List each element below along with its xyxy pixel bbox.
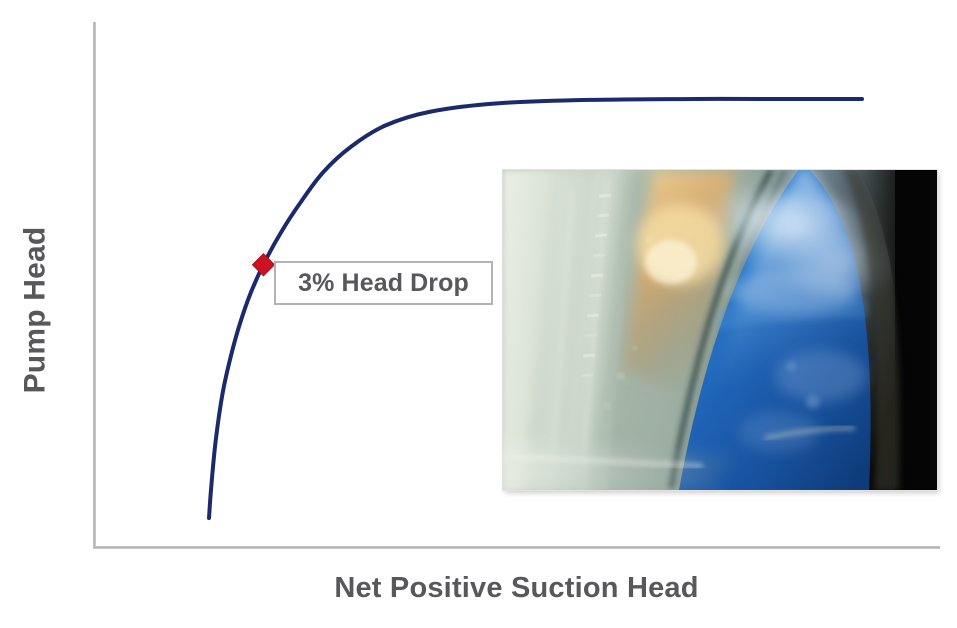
curve-layer [0,0,957,628]
three-percent-head-drop-marker [252,254,274,276]
head-drop-callout-text: 3% Head Drop [298,269,469,298]
head-drop-callout: 3% Head Drop [274,261,493,305]
npsh-pump-head-chart: Pump Head [0,0,957,628]
pump-head-curve [209,99,862,518]
x-axis-title: Net Positive Suction Head [93,572,940,605]
